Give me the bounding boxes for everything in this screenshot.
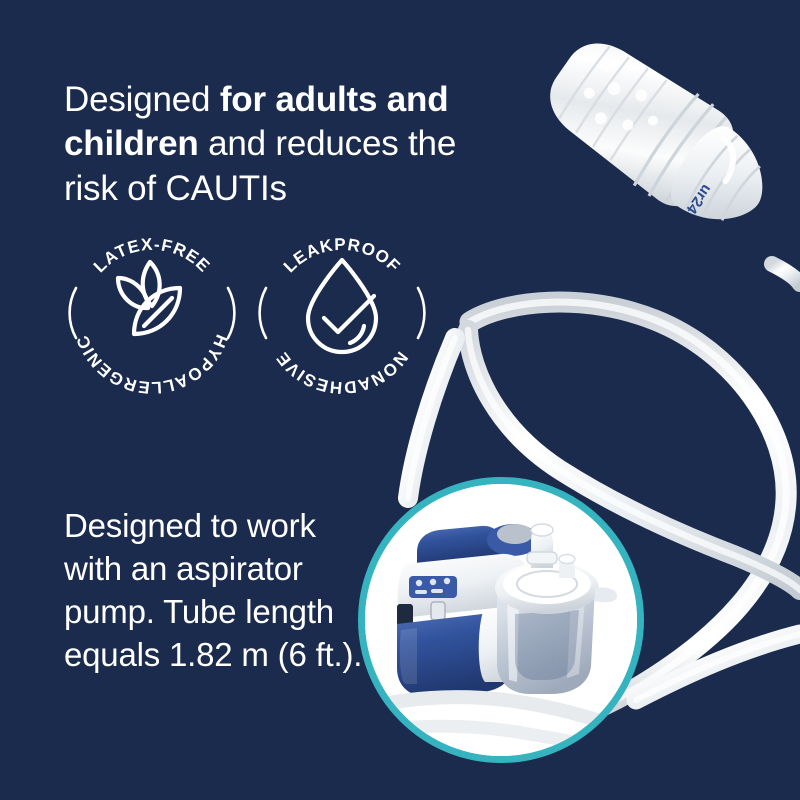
droplet-check-icon bbox=[308, 260, 376, 352]
badge-latex-top-label: LATEX-FREE bbox=[90, 235, 214, 276]
badge-latex-bottom-label: HYPOALLERGENIC bbox=[73, 332, 232, 397]
leaves-icon bbox=[118, 262, 180, 334]
badge-leak-bottom-label: NONADHESIVE bbox=[272, 348, 411, 397]
headline-part1: Designed bbox=[64, 80, 220, 119]
badge-leakproof: LEAKPROOF NONADHESIVE bbox=[252, 222, 432, 402]
external-silicone-catheter-tip: ur24 bbox=[498, 26, 800, 326]
page-title: Designed for adults and children and red… bbox=[64, 78, 504, 211]
badge-leak-top-label: LEAKPROOF bbox=[280, 235, 404, 276]
lower-description: Designed to work with an aspirator pump.… bbox=[64, 505, 364, 677]
badge-latex-free: LATEX-FREE HYPOALLERGENIC bbox=[62, 222, 242, 402]
product-feature-graphic: Designed for adults and children and red… bbox=[0, 0, 800, 800]
aspirator-pump-photo bbox=[358, 477, 644, 763]
